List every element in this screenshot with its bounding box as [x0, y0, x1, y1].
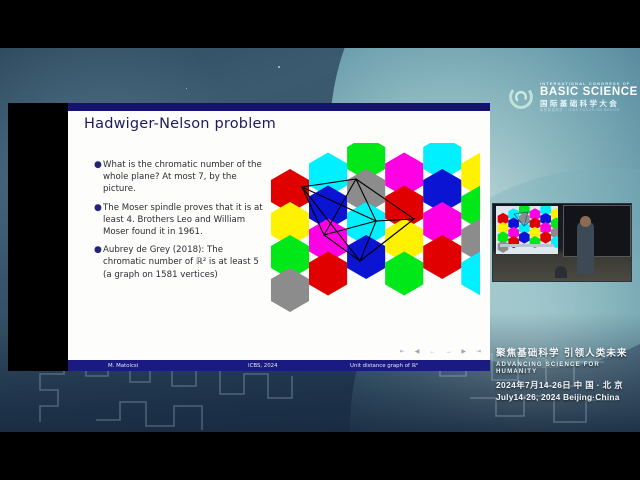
beamer-navigation-bar[interactable]: ⇤ ◀ ← → ▶ ⇥: [400, 348, 482, 355]
bullet-dot-icon: ●: [94, 159, 103, 196]
back-icon[interactable]: ←: [429, 349, 436, 355]
forward-icon[interactable]: →: [445, 349, 452, 355]
bullet-dot-icon: ●: [94, 202, 103, 239]
letterbox-top: [0, 0, 640, 48]
logo-line-3: 国际基础科学大会: [540, 100, 638, 108]
caption-date-english: July14-26, 2024 Beijing·China: [496, 392, 636, 402]
slide-header-bar: [68, 103, 490, 111]
speaker-head: [580, 216, 591, 227]
projection-screen: [496, 206, 558, 254]
footer-author: M. Matolcsi: [108, 363, 138, 369]
caption-date-chinese: 2024年7月14-26日 中 国 · 北 京: [496, 379, 636, 391]
projected-slide-thumbnail: [496, 206, 558, 254]
bullet-item: ● Aubrey de Grey (2018): The chromatic n…: [94, 244, 266, 281]
event-caption: 聚焦基础科学 引领人类未来 ADVANCING SCIENCE FOR HUMA…: [496, 345, 636, 402]
hexagon-cell: [347, 235, 385, 279]
blackboard: [563, 205, 631, 257]
hexagon-cell: [385, 252, 423, 296]
first-slide-icon[interactable]: ⇤: [400, 348, 406, 355]
presentation-slide[interactable]: Hadwiger-Nelson problem ● What is the ch…: [68, 103, 490, 371]
hexagon-cell: [461, 252, 480, 296]
bullet-item: ● The Moser spindle proves that it is at…: [94, 202, 266, 239]
bullet-text: Aubrey de Grey (2018): The chromatic num…: [103, 244, 266, 281]
speaker-body: [577, 222, 594, 274]
bullet-text: What is the chromatic number of the whol…: [103, 159, 266, 196]
caption-english-slogan: ADVANCING SCIENCE FOR HUMANITY: [496, 361, 636, 375]
caption-chinese-slogan: 聚焦基础科学 引领人类未来: [496, 345, 636, 359]
hexagon-cell: [271, 268, 309, 312]
speaker-camera-inset[interactable]: [492, 203, 632, 282]
audience-head: [555, 266, 567, 278]
hexagon-seven-coloring-figure: [264, 143, 480, 333]
sparkle-dot: [278, 66, 280, 68]
icbs-circle-logo-icon: [508, 84, 534, 110]
slide-letterbox: Hadwiger-Nelson problem ● What is the ch…: [8, 103, 490, 371]
last-slide-icon[interactable]: ⇥: [476, 348, 482, 355]
screen: INTERNATIONAL CONGRESS OF BASIC SCIENCE …: [0, 0, 640, 480]
hexagon-cell: [309, 252, 347, 296]
bullet-text: The Moser spindle proves that it is at l…: [103, 202, 266, 239]
slide-footer: M. Matolcsi ICBS, 2024 Unit distance gra…: [68, 360, 490, 371]
next-slide-icon[interactable]: ▶: [461, 348, 467, 355]
logo-line-2: BASIC SCIENCE: [540, 87, 638, 99]
sparkle-dot: [186, 88, 187, 89]
bullet-item: ● What is the chromatic number of the wh…: [94, 159, 266, 196]
hexagon-cell: [423, 235, 461, 279]
footer-event: ICBS, 2024: [248, 363, 278, 369]
prev-slide-icon[interactable]: ◀: [415, 348, 421, 355]
footer-section: Unit distance graph of ℝ²: [350, 363, 418, 369]
congress-logo: INTERNATIONAL CONGRESS OF BASIC SCIENCE …: [508, 82, 638, 112]
letterbox-bottom: [0, 432, 640, 480]
slide-title: Hadwiger-Nelson problem: [84, 116, 276, 132]
logo-line-4: 聚焦基础科学 · ICBS FOCUS ON BASICS: [540, 109, 638, 112]
slide-bullet-list: ● What is the chromatic number of the wh…: [94, 159, 266, 287]
bullet-dot-icon: ●: [94, 244, 103, 281]
